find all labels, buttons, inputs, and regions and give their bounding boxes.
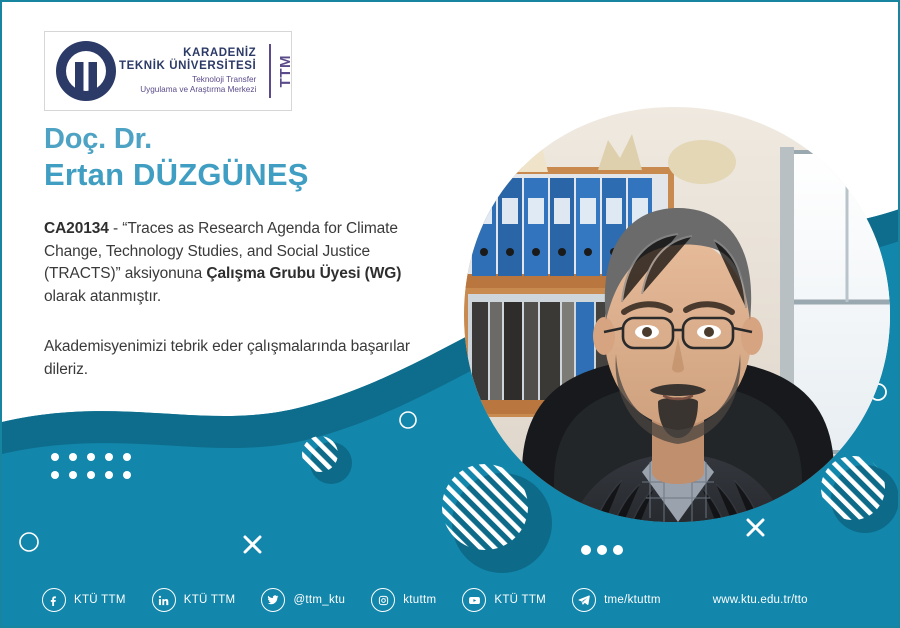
telegram-icon: [572, 588, 596, 612]
social-link-twitter[interactable]: @ttm_ktu: [261, 588, 345, 612]
logo-divider: [269, 44, 271, 98]
name-heading-block: Doç. Dr. Ertan DÜZGÜNEŞ: [44, 122, 464, 194]
twitter-icon: [261, 588, 285, 612]
instagram-icon: [371, 588, 395, 612]
facebook-icon: [42, 588, 66, 612]
poster-canvas: KARADENİZ TEKNİK ÜNİVERSİTESİ Teknoloji …: [0, 0, 900, 628]
logo-line-3: Teknoloji Transfer: [119, 75, 256, 86]
logo-line-4: Uygulama ve Araştırma Merkezi: [119, 85, 256, 96]
telegram-handle: tme/ktuttm: [604, 594, 661, 606]
website-url[interactable]: www.ktu.edu.tr/tto: [713, 594, 808, 606]
social-link-facebook[interactable]: KTÜ TTM: [42, 588, 126, 612]
ktu-emblem-icon: [53, 38, 119, 104]
linkedin-icon: [152, 588, 176, 612]
paragraph-congrats: Akademisyenimizi tebrik eder çalışmaları…: [44, 336, 444, 381]
title-prefix: Doç. Dr.: [44, 122, 464, 156]
action-code: CA20134: [44, 220, 109, 237]
social-footer: KTÜ TTM KTÜ TTM @ttm_ktu: [2, 574, 900, 626]
striped-circle-1: [302, 436, 338, 472]
social-link-instagram[interactable]: ktuttm: [371, 588, 436, 612]
page-title: Ertan DÜZGÜNEŞ: [44, 156, 464, 194]
ktu-ttm-logo: KARADENİZ TEKNİK ÜNİVERSİTESİ Teknoloji …: [44, 31, 292, 111]
social-link-linkedin[interactable]: KTÜ TTM: [152, 588, 236, 612]
instagram-handle: ktuttm: [403, 594, 436, 606]
paragraph-action: CA20134 - “Traces as Research Agenda for…: [44, 218, 444, 308]
announcement-body: CA20134 - “Traces as Research Agenda for…: [44, 218, 444, 381]
role-label: Çalışma Grubu Üyesi (WG): [206, 265, 401, 282]
facebook-handle: KTÜ TTM: [74, 594, 126, 606]
linkedin-handle: KTÜ TTM: [184, 594, 236, 606]
action-text-end: olarak atanmıştır.: [44, 288, 161, 305]
logo-line-2: TEKNİK ÜNİVERSİTESİ: [119, 60, 256, 73]
twitter-handle: @ttm_ktu: [293, 594, 345, 606]
logo-line-1: KARADENİZ: [119, 47, 256, 60]
portrait-photo: [464, 107, 890, 577]
social-link-telegram[interactable]: tme/ktuttm: [572, 588, 661, 612]
youtube-icon: [462, 588, 486, 612]
logo-ttm-vertical: TTM: [277, 55, 294, 87]
youtube-handle: KTÜ TTM: [494, 594, 546, 606]
social-link-youtube[interactable]: KTÜ TTM: [462, 588, 546, 612]
